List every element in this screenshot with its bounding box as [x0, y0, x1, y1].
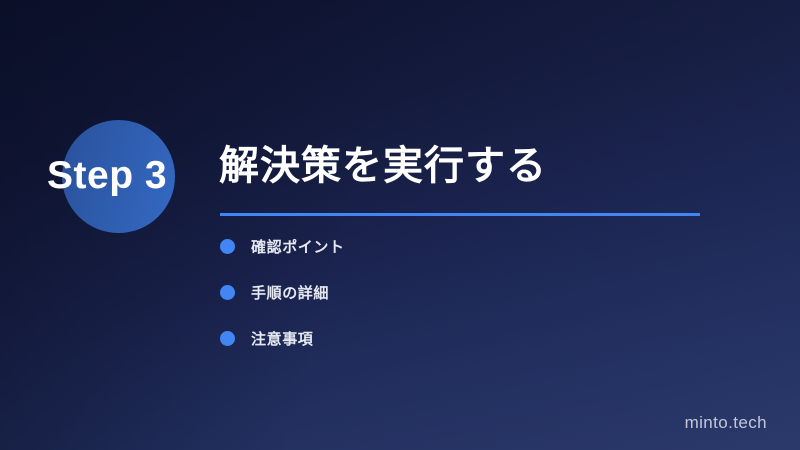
list-item: 手順の詳細 [220, 281, 345, 304]
title-divider [220, 213, 700, 216]
bullet-dot-icon [220, 239, 235, 254]
list-item-label: 手順の詳細 [251, 282, 329, 303]
slide-title: 解決策を実行する [219, 143, 547, 189]
list-item-label: 確認ポイント [251, 236, 345, 257]
list-item-label: 注意事項 [251, 328, 313, 349]
bullet-list: 確認ポイント 手順の詳細 注意事項 [220, 235, 345, 373]
list-item: 確認ポイント [220, 235, 345, 258]
bullet-dot-icon [220, 331, 235, 346]
watermark-brand: minto.tech [685, 413, 767, 433]
bullet-dot-icon [220, 285, 235, 300]
list-item: 注意事項 [220, 327, 345, 350]
presentation-slide: Step 3 解決策を実行する 確認ポイント 手順の詳細 注意事項 minto.… [0, 0, 800, 450]
step-label: Step 3 [47, 152, 217, 200]
